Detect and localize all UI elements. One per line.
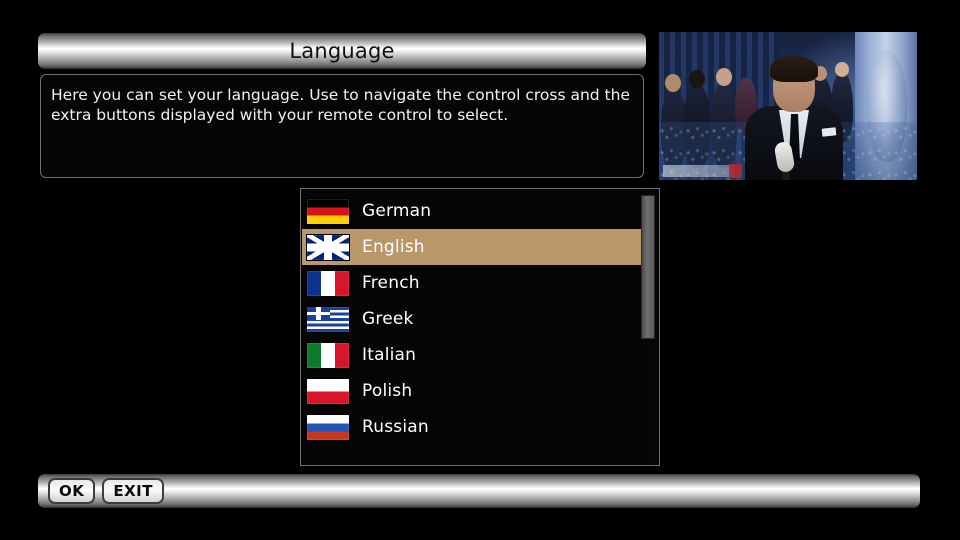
bottom-action-bar: OK EXIT <box>38 474 920 508</box>
exit-button[interactable]: EXIT <box>102 478 164 504</box>
video-preview[interactable] <box>659 32 917 180</box>
list-item-french[interactable]: French <box>302 265 642 301</box>
flag-france-icon <box>306 270 350 297</box>
flag-russia-icon <box>306 414 350 441</box>
exit-button-label: EXIT <box>113 482 153 500</box>
description-box: Here you can set your language. Use to n… <box>40 74 644 178</box>
reporter-pocket-square <box>822 127 837 136</box>
list-item-english[interactable]: English <box>302 229 642 265</box>
list-item-italian[interactable]: Italian <box>302 337 642 373</box>
reporter-hair <box>770 56 818 82</box>
list-item-label: Italian <box>362 345 416 365</box>
list-item-german[interactable]: German <box>302 193 642 229</box>
flag-italy-icon <box>306 342 350 369</box>
list-item-label: Russian <box>362 417 429 437</box>
flag-greece-icon <box>306 306 350 333</box>
list-item-label: Polish <box>362 381 412 401</box>
video-crowd-figure <box>689 70 705 88</box>
page-title: Language <box>289 39 394 63</box>
list-item-label: French <box>362 273 420 293</box>
video-crowd-figure <box>665 74 681 92</box>
ok-button-label: OK <box>59 482 84 500</box>
button-group: OK EXIT <box>48 478 164 504</box>
scrollbar-track[interactable] <box>643 191 657 465</box>
ok-button[interactable]: OK <box>48 478 95 504</box>
list-item-greek[interactable]: Greek <box>302 301 642 337</box>
flag-germany-icon <box>306 198 350 225</box>
language-list-panel[interactable]: German English French Greek Italian Poli <box>300 188 660 466</box>
description-text: Here you can set your language. Use to n… <box>51 85 633 125</box>
tv-settings-screen: Language Here you can set your language.… <box>0 0 960 540</box>
language-list: German English French Greek Italian Poli <box>302 193 642 445</box>
list-item-russian[interactable]: Russian <box>302 409 642 445</box>
news-channel-logo <box>663 165 735 177</box>
list-item-polish[interactable]: Polish <box>302 373 642 409</box>
scrollbar-thumb[interactable] <box>641 195 655 339</box>
list-item-label: German <box>362 201 431 221</box>
news-channel-logo-badge <box>729 164 742 178</box>
video-crowd-figure <box>835 62 849 77</box>
flag-poland-icon <box>306 378 350 405</box>
list-item-label: Greek <box>362 309 414 329</box>
window-title-bar: Language <box>38 33 646 69</box>
list-item-label: English <box>362 237 425 257</box>
flag-united-kingdom-icon <box>306 234 350 261</box>
video-crowd-figure <box>716 68 732 86</box>
